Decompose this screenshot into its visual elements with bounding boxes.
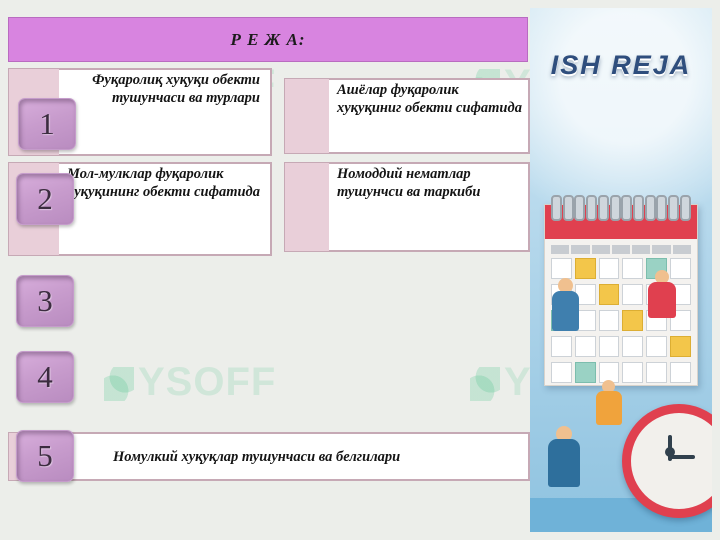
badge-1: 1: [18, 98, 76, 150]
spiral-binding-icon: [551, 195, 691, 217]
badge-3-label: 3: [37, 283, 53, 319]
agenda-item-2-box: Ашёлар фуқаролик хуқуқиниг обекти сифати…: [284, 78, 530, 154]
agenda-item-4-box: Номоддий нематлар тушунчси ва таркиби: [284, 162, 530, 252]
person-figure: [552, 278, 579, 331]
agenda-item-2-text: Ашёлар фуқаролик хуқуқиниг обекти сифати…: [329, 80, 528, 117]
person-body: [552, 291, 579, 331]
agenda-item-3-text: Мол-мулклар фуқаролик хуқуқининг обекти …: [59, 164, 270, 201]
slide-title: Р Е Ж А:: [230, 30, 305, 50]
watermark-text: YSOFF: [138, 360, 276, 404]
agenda-item-1-inner: Фуқаролиқ хуқуқи обекти тушунчаси ва тур…: [59, 69, 271, 155]
schedule-grid-row: [551, 336, 691, 357]
person-figure: [548, 426, 580, 487]
illustration-title: ISH REJA: [530, 50, 712, 81]
person-body: [548, 439, 580, 487]
agenda-item-5-text: Номулкий хуқуқлар тушунчаси ва белгилари: [69, 447, 406, 467]
badge-4: 4: [16, 351, 74, 403]
badge-5: 5: [16, 430, 74, 482]
badge-2: 2: [16, 173, 74, 225]
illustration-panel: ISH REJA: [530, 8, 712, 532]
agenda-item-5-inner: Номулкий хуқуқлар тушунчаси ва белгилари: [69, 433, 529, 480]
schedule-grid-header: [551, 245, 691, 254]
agenda-item-1-text: Фуқаролиқ хуқуқи обекти тушунчаси ва тур…: [59, 70, 270, 107]
leaf-icon: [470, 367, 500, 401]
agenda-item-3-inner: Мол-мулклар фуқаролик хуқуқининг обекти …: [59, 163, 271, 255]
badge-2-label: 2: [37, 181, 53, 217]
slide-title-bar: Р Е Ж А:: [8, 17, 528, 62]
agenda-item-4-inner: Номоддий нематлар тушунчси ва таркиби: [329, 163, 529, 251]
agenda-item-5-box: Номулкий хуқуқлар тушунчаси ва белгилари: [8, 432, 530, 481]
person-body: [648, 282, 676, 318]
badge-5-label: 5: [37, 438, 53, 474]
watermark-3: YSOFF: [104, 360, 276, 405]
badge-3: 3: [16, 275, 74, 327]
leaf-icon: [104, 367, 134, 401]
person-figure: [648, 270, 676, 318]
person-body: [596, 391, 622, 425]
agenda-item-4-text: Номоддий нематлар тушунчси ва таркиби: [329, 164, 528, 201]
slide-canvas: YSOFF YSOFF YSOFF YSOFF Р Е Ж А: Фуқарол…: [0, 0, 720, 540]
clock-center-pin: [665, 447, 675, 457]
person-figure: [596, 380, 622, 425]
badge-1-label: 1: [39, 106, 55, 142]
agenda-item-2-inner: Ашёлар фуқаролик хуқуқиниг обекти сифати…: [329, 79, 529, 153]
badge-4-label: 4: [37, 359, 53, 395]
